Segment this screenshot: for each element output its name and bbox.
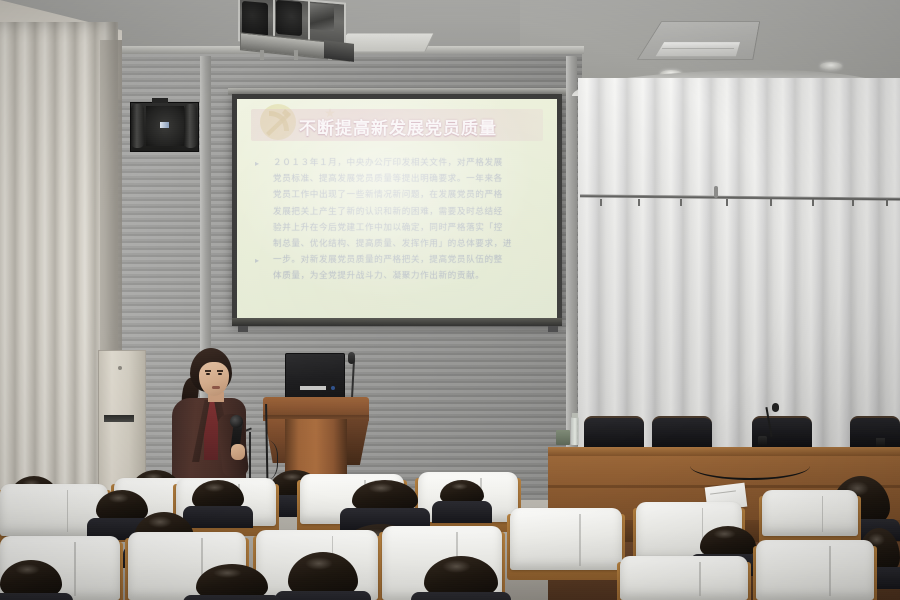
curtain-rail-hook (638, 199, 640, 206)
projector-lens-housing (324, 40, 354, 62)
audience-shoulders (183, 506, 254, 528)
slide-body-line: 体质量，为全党提升战斗力、凝聚力作出新的贡献。 (255, 268, 543, 284)
slide-title: 不断提高新发展党员质量 (299, 113, 543, 139)
curtain-rail-bracket (714, 186, 718, 198)
table-microphone-base (876, 438, 885, 447)
curtain-rail-hook (600, 199, 602, 206)
lecture-hall-photo: 不断提高新发展党员质量 ▸ ２０１３年１月，中央办公厅印发相关文件，对严格发展 … (0, 0, 900, 600)
gooseneck-microphone-head (348, 352, 355, 364)
slide-body-line: 党员工作中出现了一些新情况新问题，在发展党员的严格 (255, 187, 543, 203)
speaker-ceiling-mount (152, 98, 168, 103)
curtain-rail-hook (886, 199, 888, 206)
screen-bracket (548, 326, 558, 332)
auditorium-seat (762, 490, 858, 536)
presenter-face (199, 362, 229, 396)
slide-body-line: 发展把关上产生了新的认识和新的困难，需要及时总结经 (255, 204, 543, 220)
projector-leg (294, 50, 298, 60)
speaker-indicator (160, 122, 169, 128)
audience-shoulders (183, 595, 281, 600)
ceiling-projector-assembly (238, 0, 368, 60)
seat-cover-crease (822, 496, 824, 532)
audience-shoulders (0, 593, 73, 600)
slide-bullet-marker: ▸ (255, 161, 260, 166)
presenter-eyebrow (217, 370, 223, 372)
panel-chair (584, 416, 644, 450)
projector-cage-window (310, 3, 334, 31)
auditorium-seat (620, 556, 748, 600)
screen-bracket (238, 326, 248, 332)
panel-chair (850, 416, 900, 450)
air-conditioner-vent-slot (104, 415, 134, 422)
presenter-eye (206, 373, 210, 375)
presenter-hand (231, 444, 245, 460)
curtain-rail-hook (680, 199, 682, 206)
audience-shoulders (411, 592, 512, 600)
monitor-label-strip (300, 386, 326, 390)
slide-bullet-marker: ▸ (255, 258, 260, 263)
slide-body-line: 一步。对新发展党员质量的严格把关，提高党员队伍的整 (255, 252, 543, 268)
seat-cover-crease (74, 542, 76, 596)
audience-shoulders (275, 591, 370, 600)
monitor-indicator (331, 386, 335, 390)
recessed-light-icon (820, 62, 842, 70)
air-conditioner-sensor (118, 366, 122, 370)
projector-body-right (276, 0, 302, 36)
curtain-rail-hook (852, 199, 854, 206)
projector-body-left (242, 1, 268, 37)
seated-audience (0, 470, 900, 600)
seat-cover-crease (699, 562, 701, 596)
projection-screen-surface: 不断提高新发展党员质量 ▸ ２０１３年１月，中央办公厅印发相关文件，对严格发展 … (237, 99, 557, 318)
cup (556, 430, 570, 445)
water-bottle (571, 417, 579, 445)
presenter-mouth (212, 386, 220, 389)
handheld-microphone-head (230, 415, 243, 428)
fluted-wall-shading (578, 78, 900, 448)
speaker-side-cylinder (131, 104, 144, 148)
seat-cover-crease (579, 514, 581, 566)
slide-body-line: 验并上升在今后党建工作中加以确定，同时严格落实「控 (255, 220, 543, 236)
projector-leg (260, 50, 264, 60)
speaker-side-cylinder (184, 104, 197, 148)
auditorium-seat (510, 508, 622, 570)
audience-shoulders (432, 501, 492, 523)
ceiling-air-vent-line (662, 48, 734, 49)
auditorium-seat (756, 540, 874, 600)
seat-cover-crease (829, 546, 831, 596)
curtain-rail-hook (726, 199, 728, 206)
lectern-monitor (285, 353, 345, 399)
curtain-rail-hook (812, 199, 814, 206)
table-microphone-head (772, 403, 779, 412)
curtain-rail-hook (770, 199, 772, 206)
water-bottle-cap (572, 413, 578, 418)
table-microphone-base (758, 436, 767, 446)
projection-screen-weight-bar (232, 318, 562, 326)
slide-body-line: 党员标准、提高发展党员质量等提出明确要求。一年来各 (255, 171, 543, 187)
presenter-eye (218, 373, 222, 375)
panel-chair (652, 416, 712, 450)
ceiling-air-vent-louver (656, 42, 740, 56)
slide-body-line: 制总量、优化结构、提高质量、发挥作用」的总体要求，进 (255, 236, 543, 252)
seat-cover-crease (67, 490, 69, 532)
slide-body-text: ▸ ２０１３年１月，中央办公厅印发相关文件，对严格发展 党员标准、提高发展党员质… (255, 155, 543, 285)
presenter-eyebrow (205, 370, 211, 372)
slide-body-line: ２０１３年１月，中央办公厅印发相关文件，对严格发展 (255, 155, 543, 171)
